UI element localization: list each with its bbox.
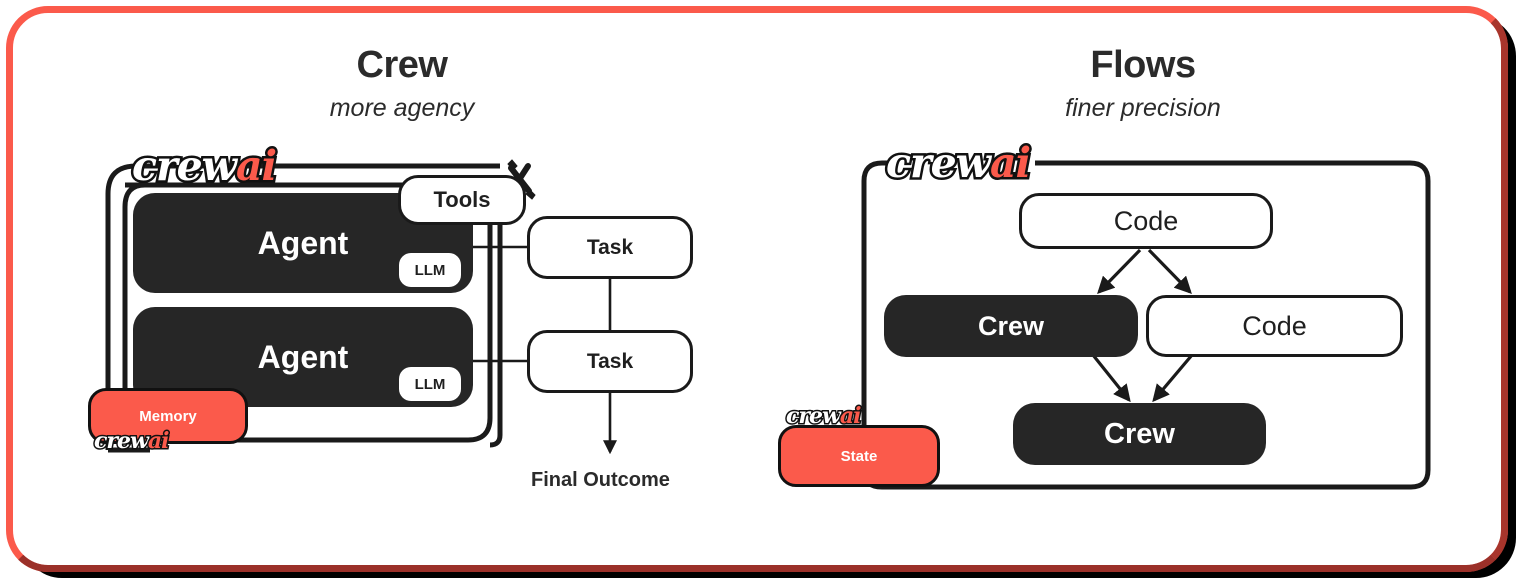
task-label-2: Task (587, 350, 633, 374)
crewai-logo-crew-part1: crew (132, 142, 236, 190)
tools-box[interactable]: Tools (398, 175, 526, 225)
llm-label-2: LLM (415, 376, 446, 393)
crewai-logo-flows-panel: crewai (886, 139, 1030, 187)
llm-badge-1[interactable]: LLM (399, 253, 461, 287)
final-outcome-label: Final Outcome (531, 469, 670, 492)
crew-box-left[interactable]: Crew (884, 295, 1138, 357)
state-box[interactable]: State (778, 425, 940, 487)
crewai-logo-flows-part1: crew (886, 139, 990, 187)
code-box-right[interactable]: Code (1146, 295, 1403, 357)
task-label-1: Task (587, 236, 633, 260)
llm-badge-2[interactable]: LLM (399, 367, 461, 401)
state-label: State (841, 448, 878, 465)
crew-label-left: Crew (978, 311, 1044, 342)
crewai-logo-state: crewai (786, 403, 861, 429)
crew-box-bottom[interactable]: Crew (1013, 403, 1266, 465)
agent-label-1: Agent (258, 225, 349, 262)
crew-label-bottom: Crew (1104, 418, 1175, 451)
agent-label-2: Agent (258, 339, 349, 376)
code-box-top[interactable]: Code (1019, 193, 1273, 249)
code-label-right: Code (1242, 311, 1307, 342)
crewai-logo-memory-part1: crew (94, 428, 148, 454)
llm-label-1: LLM (415, 262, 446, 279)
crewai-logo-flows-part2: ai (990, 139, 1030, 187)
task-box-1[interactable]: Task (527, 216, 693, 279)
code-label-top: Code (1114, 206, 1179, 237)
crewai-logo-memory: crewai (94, 428, 169, 454)
crewai-logo-crew-part2: ai (236, 142, 276, 190)
crewai-logo-state-part1: crew (786, 403, 840, 429)
task-box-2[interactable]: Task (527, 330, 693, 393)
crewai-logo-memory-part2: ai (148, 428, 169, 454)
crewai-logo-crew-panel: crewai (132, 142, 276, 190)
diagram-canvas: Crew more agency Flows finer precision (0, 0, 1526, 586)
connector-layer (0, 0, 1526, 586)
crewai-logo-state-part2: ai (840, 403, 861, 429)
memory-label: Memory (139, 408, 197, 425)
tools-label: Tools (433, 187, 490, 213)
